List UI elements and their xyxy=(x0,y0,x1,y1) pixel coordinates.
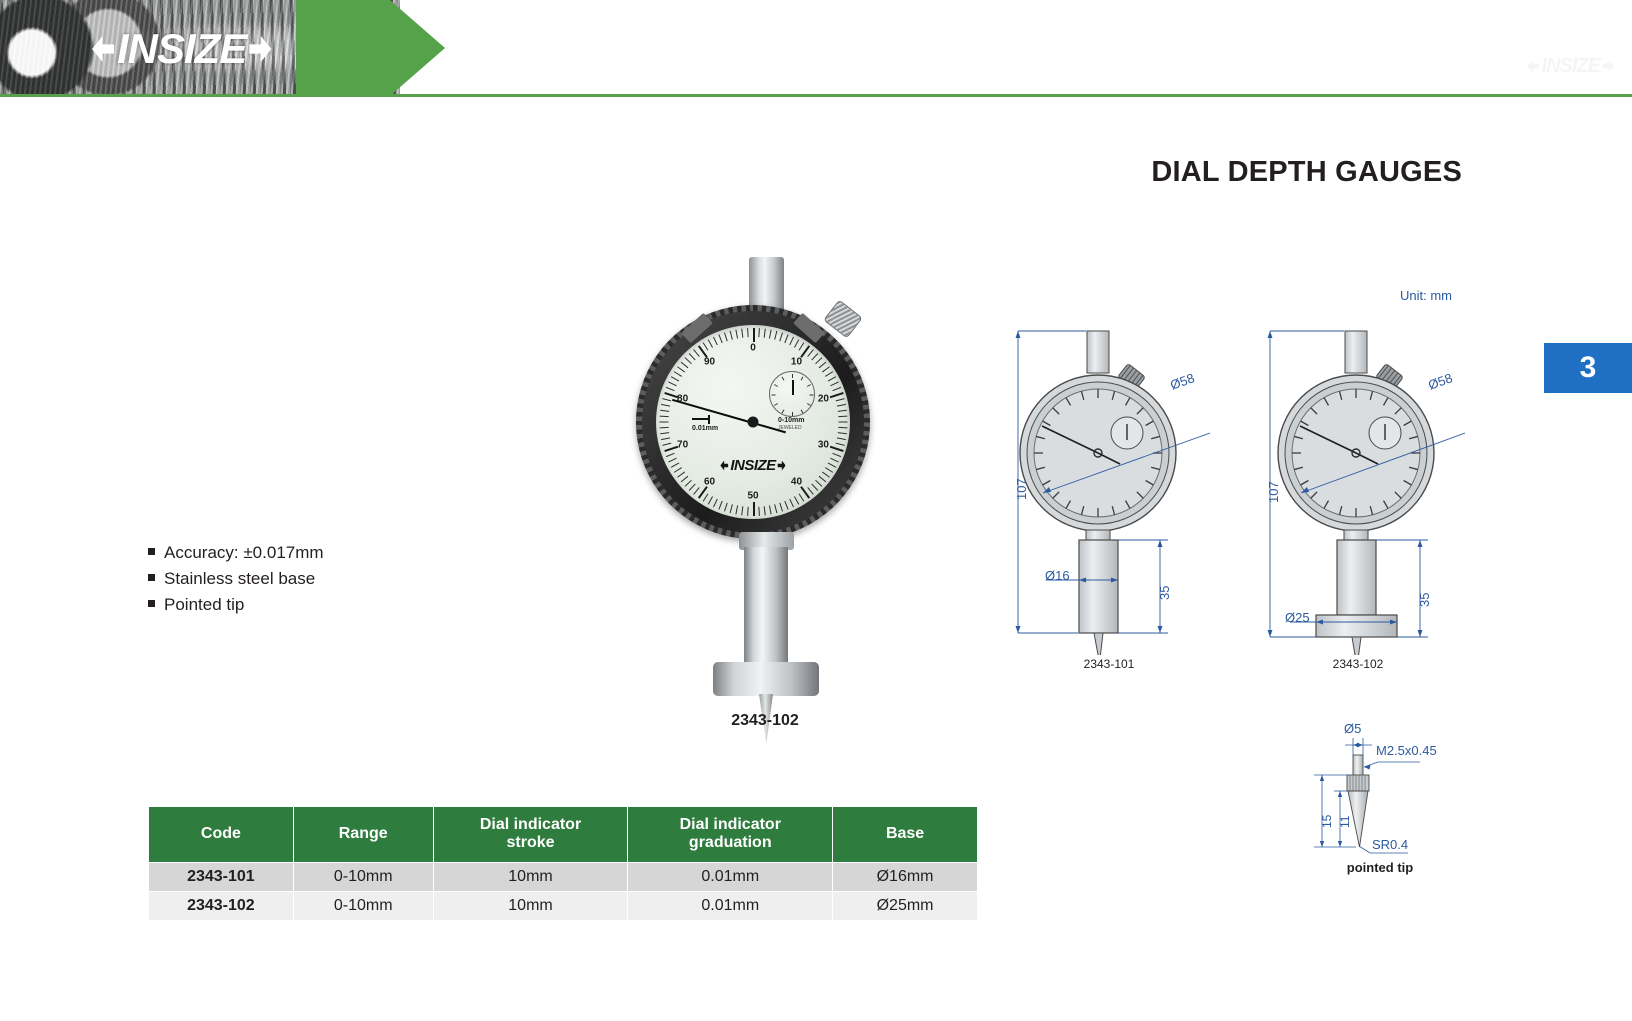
subdial-hand xyxy=(792,380,794,395)
col-header-range-line: Range xyxy=(298,825,429,843)
dial-number: 30 xyxy=(818,439,829,450)
dim-base-diameter-16: Ø16 xyxy=(1045,568,1070,583)
cell-stroke: 10mm xyxy=(433,862,628,891)
table-row: 2343-101 0-10mm 10mm 0.01mm Ø16mm xyxy=(149,862,978,891)
dial-number: 40 xyxy=(791,476,802,487)
cell-stroke: 10mm xyxy=(433,891,628,920)
dim-base-height-35: 35 xyxy=(1157,586,1172,600)
feature-text: Accuracy: ±0.017mm xyxy=(164,543,324,563)
logo-left-arrow-icon xyxy=(92,36,114,62)
col-header-graduation: Dial indicator graduation xyxy=(628,807,833,863)
drawing-2-svg xyxy=(1250,325,1465,655)
revolution-counter-subdial xyxy=(769,371,815,417)
dial-number: 60 xyxy=(704,476,715,487)
bullet-square-icon xyxy=(148,574,155,581)
technical-drawing-2343-101: 107 Ø58 Ø16 35 xyxy=(1000,325,1210,655)
dial-graduation-text: 0.01mm xyxy=(692,425,718,432)
dim-tip-top-diameter: Ø5 xyxy=(1344,721,1361,736)
dial-number: 10 xyxy=(791,357,802,368)
dim-height-107: 107 xyxy=(1266,481,1281,503)
cell-range: 0-10mm xyxy=(293,862,433,891)
page-number-badge: 3 xyxy=(1544,343,1632,393)
logo-right-arrow-icon xyxy=(249,36,271,62)
dim-tip-total-length: 15 xyxy=(1320,815,1334,828)
feature-item: Pointed tip xyxy=(148,595,324,615)
header-green-rule xyxy=(0,94,1632,97)
dial-logo-left-arrow-icon xyxy=(720,461,728,471)
drawing-1-caption: 2343-101 xyxy=(1009,657,1209,671)
dial-logo-wordmark: INSIZE xyxy=(730,457,775,474)
page-title: DIAL DEPTH GAUGES xyxy=(1151,156,1462,189)
feature-item: Stainless steel base xyxy=(148,569,324,589)
base-flange xyxy=(713,662,819,696)
cell-code: 2343-101 xyxy=(149,862,294,891)
cell-code: 2343-102 xyxy=(149,891,294,920)
pointed-tip-detail-drawing: Ø5 M2.5x0.45 15 11 SR0.4 xyxy=(1300,720,1500,855)
dial-number: 0 xyxy=(750,343,756,354)
dial-brand-logo: INSIZE xyxy=(720,457,785,474)
dial-logo-right-arrow-icon xyxy=(778,461,786,471)
dial-number: 50 xyxy=(747,491,758,502)
dim-base-height-35: 35 xyxy=(1417,593,1432,607)
watermark-right-arrow-icon xyxy=(1603,60,1614,73)
dial-range-text: 0-10mm xyxy=(778,417,804,424)
dim-base-diameter-25: Ø25 xyxy=(1285,610,1310,625)
col-header-range: Range xyxy=(293,807,433,863)
pointed-tip-caption: pointed tip xyxy=(1280,860,1480,875)
col-header-graduation-line1: Dial indicator xyxy=(632,816,828,834)
feature-text: Stainless steel base xyxy=(164,569,315,589)
table-row: 2343-102 0-10mm 10mm 0.01mm Ø25mm xyxy=(149,891,978,920)
dial-number: 70 xyxy=(677,439,688,450)
dial-face: 0908070605040302010 0.01mm 0-10mm JEWELE… xyxy=(656,325,850,519)
dim-tip-cone-length: 11 xyxy=(1338,816,1352,828)
col-header-code-line: Code xyxy=(153,825,289,843)
dial-hand-hub xyxy=(748,417,759,428)
bullet-square-icon xyxy=(148,600,155,607)
tip-detail-svg xyxy=(1300,720,1500,855)
dial-number: 90 xyxy=(704,357,715,368)
cell-range: 0-10mm xyxy=(293,891,433,920)
page-header: INSIZE INSIZE xyxy=(0,0,1632,96)
feature-list: Accuracy: ±0.017mm Stainless steel base … xyxy=(148,543,324,621)
watermark-left-arrow-icon xyxy=(1528,60,1539,73)
dim-height-107: 107 xyxy=(1014,478,1029,500)
col-header-stroke-line2: stroke xyxy=(438,834,624,852)
cell-graduation: 0.01mm xyxy=(628,862,833,891)
feature-item: Accuracy: ±0.017mm xyxy=(148,543,324,563)
col-header-graduation-line2: graduation xyxy=(632,834,828,852)
specification-table: Code Range Dial indicator stroke Dial in… xyxy=(148,806,978,921)
dim-tip-radius: SR0.4 xyxy=(1372,837,1408,852)
product-photo-caption: 2343-102 xyxy=(630,712,900,730)
product-photo-2343-102: 0908070605040302010 0.01mm 0-10mm JEWELE… xyxy=(630,250,900,700)
col-header-stroke-line1: Dial indicator xyxy=(438,816,624,834)
watermark-wordmark: INSIZE xyxy=(1542,56,1600,76)
cell-graduation: 0.01mm xyxy=(628,891,833,920)
insize-watermark-logo: INSIZE xyxy=(1528,56,1614,76)
cell-base: Ø25mm xyxy=(833,891,978,920)
cell-base: Ø16mm xyxy=(833,862,978,891)
insize-logo: INSIZE xyxy=(92,28,271,70)
feature-text: Pointed tip xyxy=(164,595,244,615)
logo-wordmark: INSIZE xyxy=(117,28,246,70)
drawing-2-caption: 2343-102 xyxy=(1258,657,1458,671)
bullet-square-icon xyxy=(148,548,155,555)
unit-label: Unit: mm xyxy=(1400,288,1452,303)
col-header-stroke: Dial indicator stroke xyxy=(433,807,628,863)
col-header-base: Base xyxy=(833,807,978,863)
table-header-row: Code Range Dial indicator stroke Dial in… xyxy=(149,807,978,863)
dim-tip-thread: M2.5x0.45 xyxy=(1376,743,1437,758)
dial-number: 20 xyxy=(818,394,829,405)
col-header-base-line: Base xyxy=(837,825,973,843)
technical-drawing-2343-102: 107 Ø58 Ø25 35 xyxy=(1250,325,1465,655)
col-header-code: Code xyxy=(149,807,294,863)
base-body xyxy=(744,547,788,667)
